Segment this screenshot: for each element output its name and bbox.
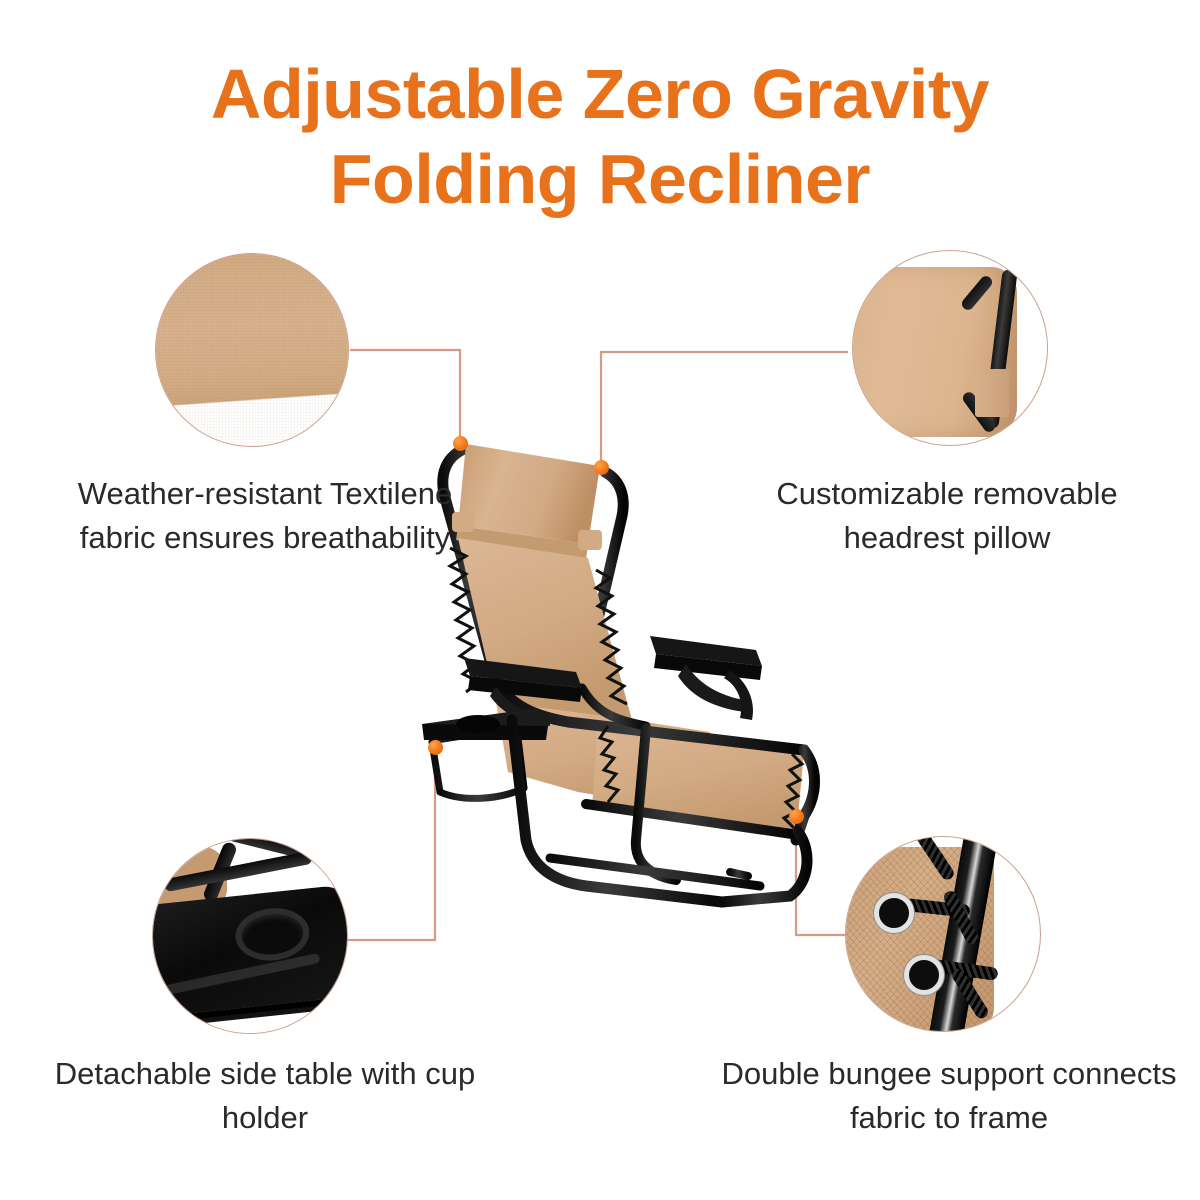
callout-label-side-table: Detachable side table with cup holder	[30, 1052, 500, 1140]
detail-circle-bungee	[845, 836, 1041, 1032]
title-line-2: Folding Recliner	[0, 137, 1200, 222]
callout-label-pillow: Customizable removable headrest pillow	[712, 472, 1182, 560]
chair-armrest-right	[650, 636, 762, 720]
fabric-grommet	[874, 893, 914, 933]
fabric-grommet	[904, 955, 944, 995]
product-infographic: Adjustable Zero Gravity Folding Recliner	[0, 0, 1200, 1200]
detail-circle-side-table	[152, 838, 348, 1034]
callout-label-fabric: Weather-resistant Textilene fabric ensur…	[40, 472, 490, 560]
fabric-weave-texture	[156, 254, 348, 446]
callout-node-fabric	[453, 436, 468, 451]
pillow-strap	[975, 369, 1009, 417]
callout-node-bungee	[789, 809, 804, 824]
side-table-surface	[152, 884, 348, 1018]
cup-holder	[233, 905, 312, 964]
page-title: Adjustable Zero Gravity Folding Recliner	[0, 52, 1200, 223]
callout-label-bungee: Double bungee support connects fabric to…	[710, 1052, 1188, 1140]
side-table-highlight	[152, 953, 320, 998]
callout-node-pillow	[594, 460, 609, 475]
title-line-1: Adjustable Zero Gravity	[0, 52, 1200, 137]
callout-node-side-table	[428, 740, 443, 755]
detail-circle-fabric	[155, 253, 349, 447]
cup-holder-recess	[456, 715, 500, 733]
detail-circle-headrest-pillow	[852, 250, 1048, 446]
